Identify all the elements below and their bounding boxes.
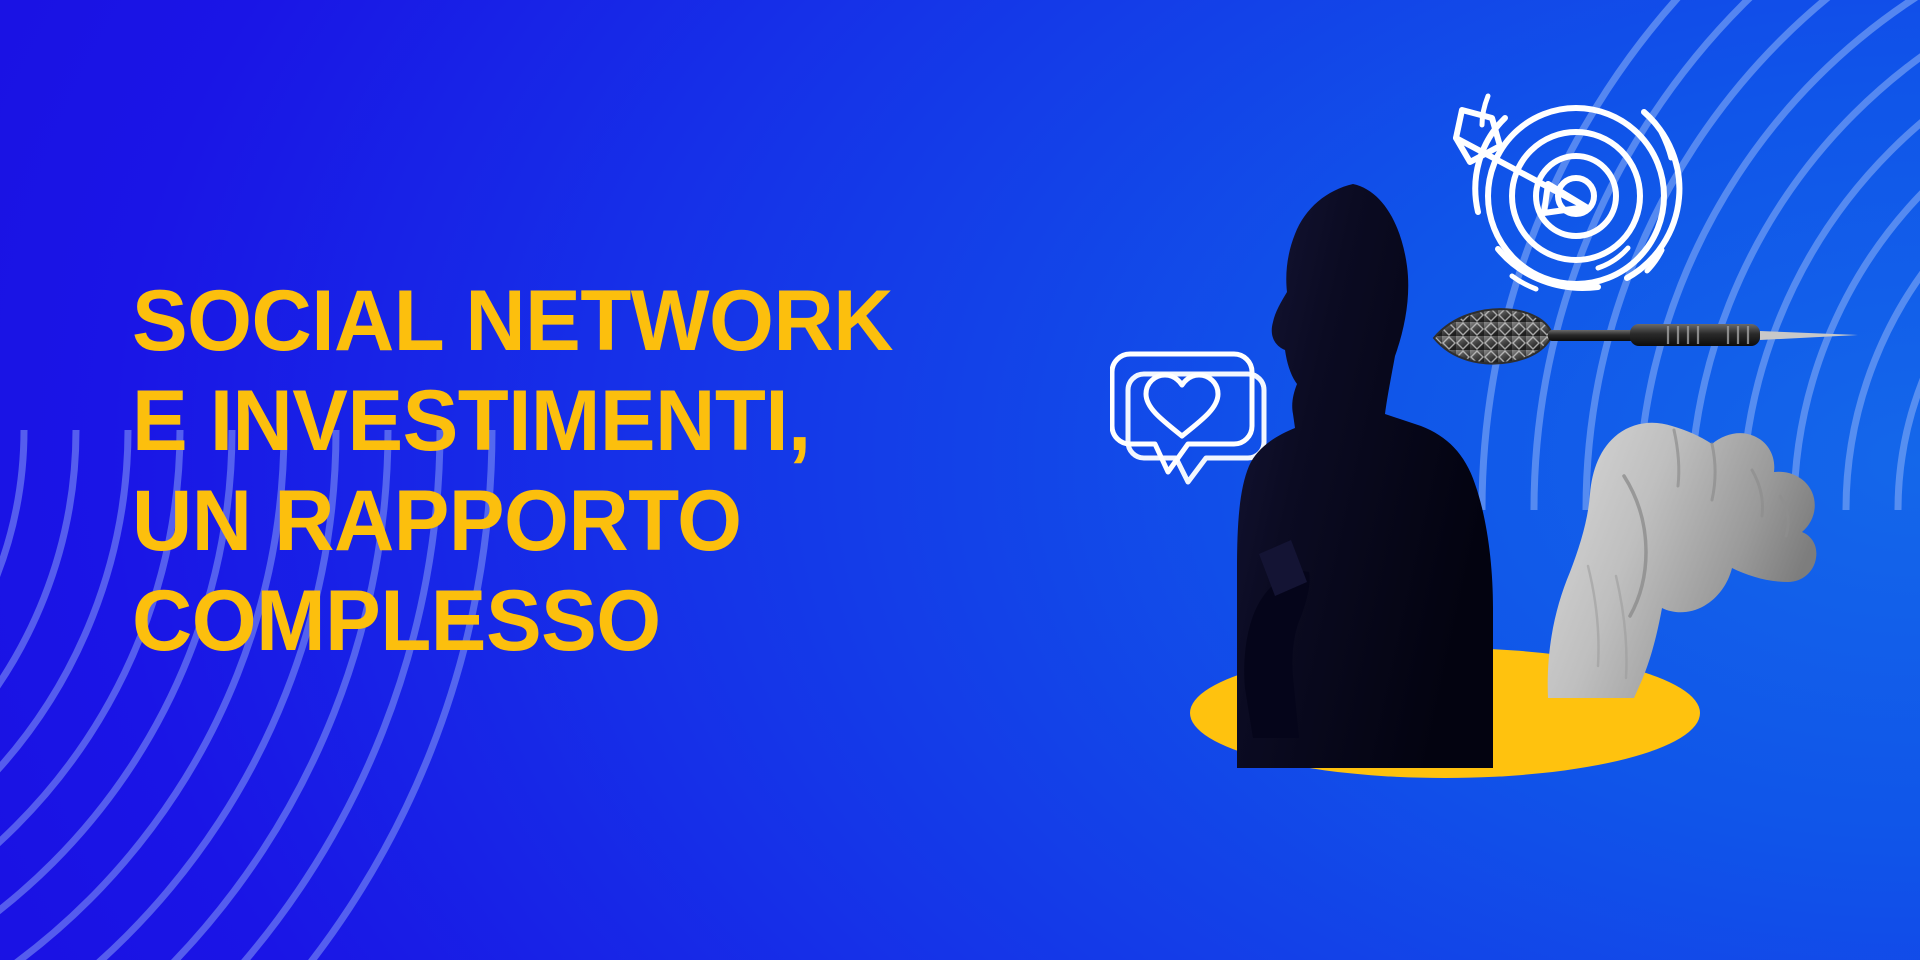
headline-title: SOCIAL NETWORK E INVESTIMENTI, UN RAPPOR… <box>132 277 1132 665</box>
headline-line-4: COMPLESSO <box>132 577 1102 665</box>
headline-line-2: E INVESTIMENTI, <box>132 377 1102 465</box>
hand-holding-dart-image <box>1428 280 1908 700</box>
hero-banner: SOCIAL NETWORK E INVESTIMENTI, UN RAPPOR… <box>0 0 1920 960</box>
hero-artwork <box>1080 0 1920 960</box>
headline-line-1: SOCIAL NETWORK <box>132 277 1102 365</box>
headline-line-3: UN RAPPORTO <box>132 477 1102 565</box>
